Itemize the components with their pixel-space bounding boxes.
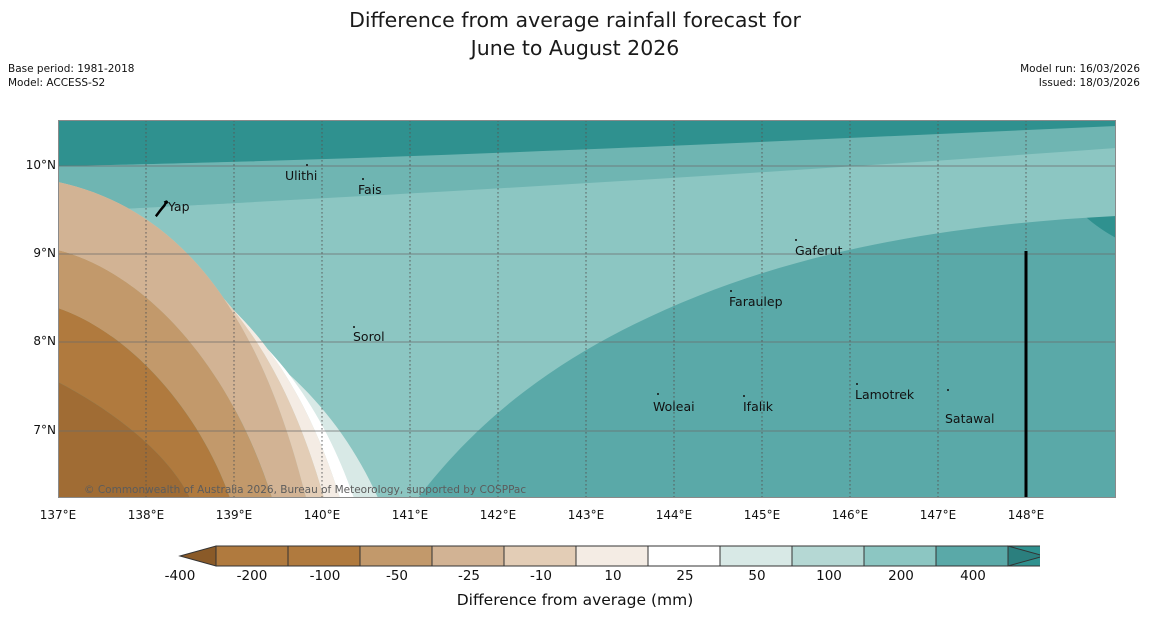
copyright-notice: © Commonwealth of Australia 2026, Bureau… bbox=[84, 484, 526, 496]
title-line-1: Difference from average rainfall forecas… bbox=[349, 8, 801, 32]
place-label-ulithi: Ulithi bbox=[285, 169, 317, 182]
colorbar-tick-100: 100 bbox=[816, 568, 842, 584]
place-marker-woleai bbox=[657, 393, 659, 395]
longitude-tick-138E: 138°E bbox=[128, 508, 165, 522]
place-label-fais: Fais bbox=[358, 183, 382, 196]
colorbar bbox=[110, 545, 1040, 567]
place-label-faraulep: Faraulep bbox=[729, 295, 783, 308]
longitude-tick-148E: 148°E bbox=[1008, 508, 1045, 522]
place-marker-ulithi bbox=[306, 164, 308, 166]
place-marker-faraulep bbox=[730, 290, 732, 292]
longitude-tick-147E: 147°E bbox=[920, 508, 957, 522]
issued-text: Issued: 18/03/2026 bbox=[1020, 76, 1140, 90]
longitude-tick-139E: 139°E bbox=[216, 508, 253, 522]
place-label-yap: Yap bbox=[168, 200, 190, 213]
place-marker-satawal bbox=[947, 389, 949, 391]
base-period-text: Base period: 1981-2018 bbox=[8, 62, 134, 76]
colorbar-tick-200: 200 bbox=[888, 568, 914, 584]
metadata-left: Base period: 1981-2018 Model: ACCESS-S2 bbox=[8, 62, 134, 90]
place-marker-sorol bbox=[353, 326, 355, 328]
title-line-2: June to August 2026 bbox=[471, 36, 680, 60]
metadata-right: Model run: 16/03/2026 Issued: 18/03/2026 bbox=[1020, 62, 1140, 90]
place-label-gaferut: Gaferut bbox=[795, 244, 842, 257]
latitude-tick-9N: 9°N bbox=[33, 246, 56, 260]
page-title: Difference from average rainfall forecas… bbox=[0, 6, 1150, 62]
place-label-woleai: Woleai bbox=[653, 400, 695, 413]
colorbar-tick-neg10: -10 bbox=[530, 568, 552, 584]
colorbar-tick-25: 25 bbox=[676, 568, 693, 584]
colorbar-tick-10: 10 bbox=[604, 568, 621, 584]
longitude-tick-145E: 145°E bbox=[744, 508, 781, 522]
longitude-tick-141E: 141°E bbox=[392, 508, 429, 522]
place-label-satawal: Satawal bbox=[945, 412, 995, 425]
colorbar-tick-400: 400 bbox=[960, 568, 986, 584]
colorbar-tick-neg50: -50 bbox=[386, 568, 408, 584]
place-marker-gaferut bbox=[795, 239, 797, 241]
colorbar-tick-neg200: -200 bbox=[237, 568, 268, 584]
colorbar-swatches bbox=[110, 545, 1040, 567]
latitude-tick-7N: 7°N bbox=[33, 423, 56, 437]
place-label-ifalik: Ifalik bbox=[743, 400, 773, 413]
place-marker-ifalik bbox=[743, 395, 745, 397]
longitude-tick-144E: 144°E bbox=[656, 508, 693, 522]
model-run-text: Model run: 16/03/2026 bbox=[1020, 62, 1140, 76]
longitude-tick-137E: 137°E bbox=[40, 508, 77, 522]
latitude-tick-10N: 10°N bbox=[26, 158, 56, 172]
rainfall-anomaly-map bbox=[58, 120, 1116, 498]
latitude-tick-8N: 8°N bbox=[33, 334, 56, 348]
longitude-tick-140E: 140°E bbox=[304, 508, 341, 522]
longitude-tick-142E: 142°E bbox=[480, 508, 517, 522]
longitude-tick-143E: 143°E bbox=[568, 508, 605, 522]
contour-field bbox=[58, 120, 1116, 498]
colorbar-tick-neg400: -400 bbox=[165, 568, 196, 584]
longitude-tick-146E: 146°E bbox=[832, 508, 869, 522]
place-marker-lamotrek bbox=[856, 383, 858, 385]
place-label-sorol: Sorol bbox=[353, 330, 385, 343]
colorbar-tick-neg100: -100 bbox=[310, 568, 341, 584]
colorbar-tick-neg25: -25 bbox=[458, 568, 480, 584]
place-label-lamotrek: Lamotrek bbox=[855, 388, 914, 401]
colorbar-axis-label: Difference from average (mm) bbox=[0, 591, 1150, 609]
model-text: Model: ACCESS-S2 bbox=[8, 76, 134, 90]
colorbar-tick-50: 50 bbox=[748, 568, 765, 584]
place-marker-fais bbox=[362, 178, 364, 180]
